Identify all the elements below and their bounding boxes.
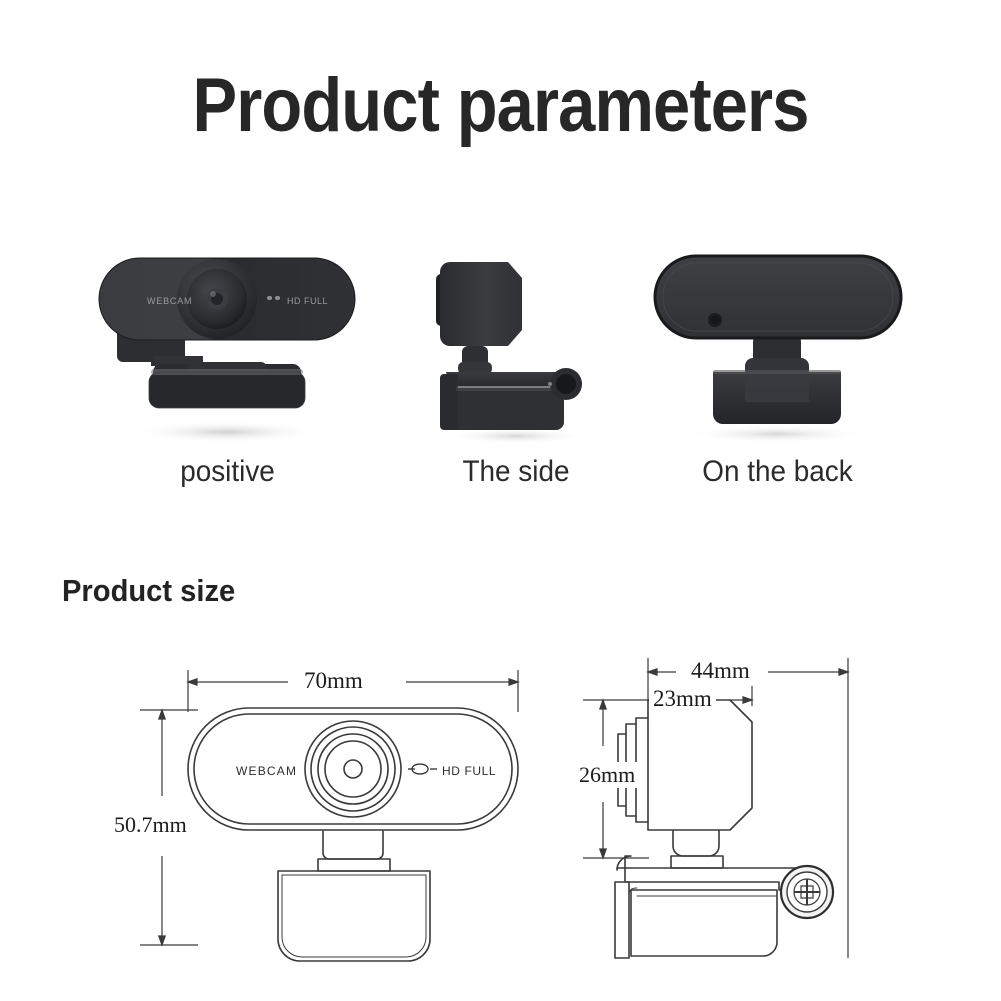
device-brand-text: WEBCAM bbox=[147, 296, 192, 306]
dimension-label-depth-outer: 44mm bbox=[687, 658, 754, 684]
device-spec-text: HD FULL bbox=[287, 296, 328, 306]
section-heading-product-size: Product size bbox=[62, 573, 235, 609]
product-photo-front: WEBCAM HD FULL bbox=[95, 236, 360, 446]
screw-knob-icon bbox=[781, 866, 833, 918]
dimension-label-height: 50.7mm bbox=[110, 812, 191, 838]
dimension-drawing-side: 44mm 23mm 26mm bbox=[575, 650, 905, 980]
dimension-label-depth-inner: 23mm bbox=[649, 686, 716, 712]
microphone-dots-icon bbox=[408, 764, 437, 774]
dimension-label-side-height: 26mm bbox=[575, 762, 639, 788]
product-photo-side bbox=[406, 236, 626, 446]
product-photo-back bbox=[645, 236, 910, 446]
caption-back: On the back bbox=[654, 455, 900, 489]
caption-side: The side bbox=[404, 455, 627, 489]
page-title: Product parameters bbox=[60, 62, 941, 149]
drawing-brand-text: WEBCAM bbox=[236, 764, 297, 778]
dimension-label-width: 70mm bbox=[300, 668, 367, 694]
caption-front: positive bbox=[104, 455, 350, 489]
dimension-drawing-front: WEBCAM HD FULL bbox=[110, 650, 570, 980]
product-parameters-page: Product parameters bbox=[0, 0, 1001, 1001]
drawing-spec-text: HD FULL bbox=[442, 764, 496, 778]
